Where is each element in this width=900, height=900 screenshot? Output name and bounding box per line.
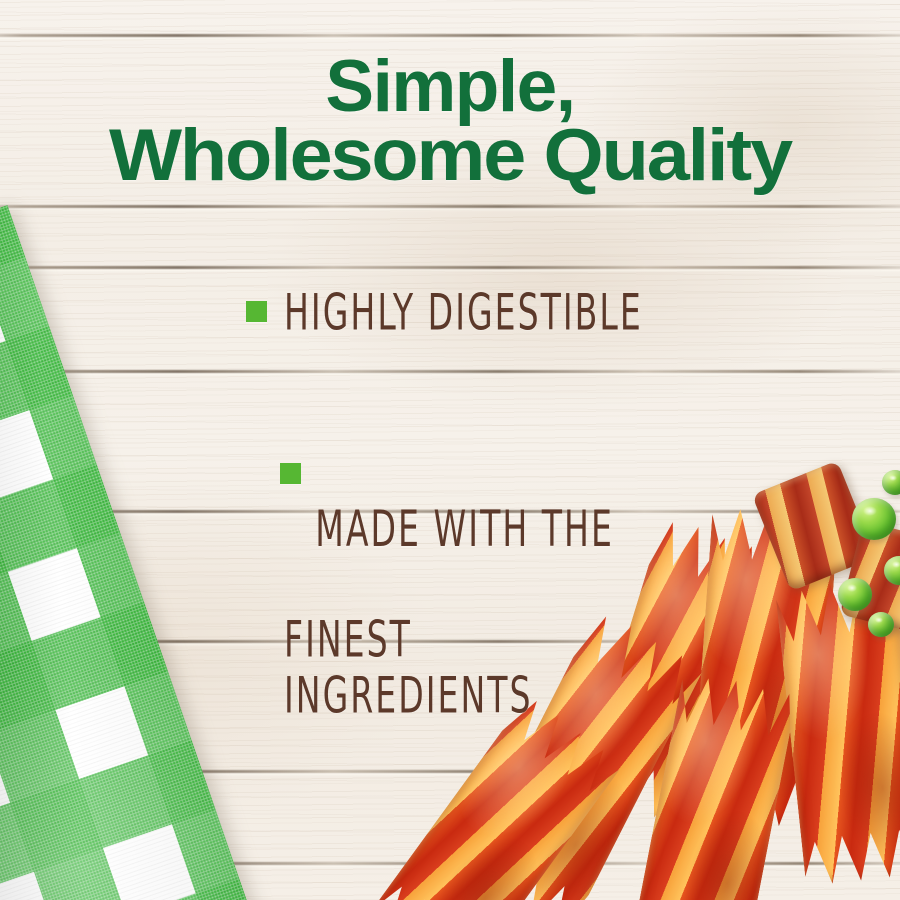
page-title: Simple, Wholesome Quality [0,52,900,191]
bullet-text-finest-ingredients: MADE WITH THE FINEST INGREDIENTS [284,447,672,780]
bullet-text-line: MADE WITH THE [284,502,672,558]
wood-plank-seam [0,266,900,269]
pea-icon [868,612,894,637]
pea-icon [852,498,896,540]
bullet-text-highly-digestible: HIGHLY DIGESTIBLE [284,286,672,342]
headline-line-1: Simple, [0,52,900,121]
headline-line-2: Wholesome Quality [0,121,900,190]
list-item: MADE WITH THE FINEST INGREDIENTS [236,447,706,716]
promo-banner: Simple, Wholesome Quality HIGHLY DIGESTI… [0,0,900,900]
list-item: HIGHLY DIGESTIBLE [236,286,706,331]
bullet-text-line: FINEST INGREDIENTS [284,613,672,724]
pea-icon [838,578,872,611]
feature-bullet-list: HIGHLY DIGESTIBLE MADE WITH THE FINEST I… [236,286,706,900]
bullet-square-icon [246,301,267,322]
wood-plank-seam [0,34,900,37]
wood-plank-seam [0,205,900,208]
spacer [236,355,706,447]
